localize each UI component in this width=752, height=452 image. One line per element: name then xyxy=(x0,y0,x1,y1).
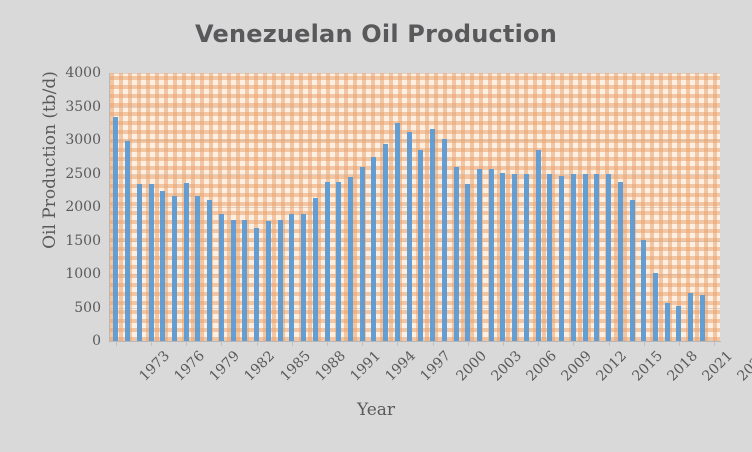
x-axis-tick-labels: 1973197619791982198519881991199419972000… xyxy=(110,342,720,397)
y-axis-tick-label: 1000 xyxy=(65,266,101,282)
bar xyxy=(618,182,623,341)
x-axis-tickmark xyxy=(503,342,504,346)
x-axis-tickmark xyxy=(433,342,434,346)
bar xyxy=(325,182,330,341)
bar xyxy=(653,273,658,341)
bar xyxy=(594,174,599,341)
bar xyxy=(360,167,365,341)
bar xyxy=(512,174,517,341)
bar xyxy=(242,220,247,341)
x-axis-tickmark xyxy=(644,342,645,346)
bar xyxy=(559,176,564,341)
x-axis-tickmark xyxy=(327,342,328,346)
x-axis-tickmark xyxy=(714,342,715,346)
x-axis-tick-label: 2024 xyxy=(735,348,752,385)
y-axis-tick-label: 2500 xyxy=(65,166,101,182)
bar xyxy=(418,150,423,341)
bar xyxy=(289,214,294,341)
bar xyxy=(125,141,130,341)
x-axis-tickmark xyxy=(116,342,117,346)
plot-area xyxy=(110,73,720,341)
x-axis-tick-label: 1979 xyxy=(207,348,244,385)
x-axis-tickmark xyxy=(186,342,187,346)
bar xyxy=(536,150,541,341)
x-axis-tick-label: 2015 xyxy=(629,348,666,385)
x-axis-tick-label: 2006 xyxy=(523,348,560,385)
bar xyxy=(407,132,412,341)
bar xyxy=(266,221,271,341)
bar xyxy=(313,198,318,341)
bar xyxy=(430,129,435,341)
x-axis-tickmark xyxy=(257,342,258,346)
bar xyxy=(454,167,459,341)
bar xyxy=(113,117,118,341)
bar xyxy=(688,293,693,341)
bar xyxy=(583,174,588,342)
x-axis-tickmark xyxy=(609,342,610,346)
x-axis-tickmark xyxy=(292,342,293,346)
bar xyxy=(641,240,646,341)
y-axis-tick-label: 500 xyxy=(74,300,101,316)
bar xyxy=(254,228,259,341)
x-axis-tick-label: 2021 xyxy=(699,348,736,385)
bar xyxy=(524,174,529,341)
bar xyxy=(395,123,400,341)
y-axis-tick-label: 3000 xyxy=(65,132,101,148)
bar xyxy=(172,196,177,341)
plot-inner xyxy=(110,73,720,341)
x-axis-tick-label: 1973 xyxy=(136,348,173,385)
bar xyxy=(571,174,576,342)
bar xyxy=(500,173,505,341)
bar xyxy=(160,191,165,341)
x-axis-tickmark xyxy=(468,342,469,346)
x-axis-tick-label: 1988 xyxy=(312,348,349,385)
bar xyxy=(665,303,670,341)
y-axis-tick-label: 1500 xyxy=(65,233,101,249)
y-axis-tick-label: 0 xyxy=(92,333,101,349)
y-axis-tick-label: 3500 xyxy=(65,99,101,115)
x-axis-tick-label: 1982 xyxy=(242,348,279,385)
x-axis-tick-label: 2000 xyxy=(453,348,490,385)
x-axis-tickmark xyxy=(397,342,398,346)
x-axis-tickmark xyxy=(362,342,363,346)
bar xyxy=(477,169,482,341)
chart-container: Venezuelan Oil Production Oil Production… xyxy=(0,0,752,452)
x-axis-tickmark xyxy=(221,342,222,346)
bar xyxy=(371,157,376,341)
y-axis-tick-labels: 40003500300025002000150010005000 xyxy=(50,73,105,341)
bar xyxy=(700,295,705,341)
bar xyxy=(137,184,142,341)
bar xyxy=(195,196,200,341)
x-axis-tickmark xyxy=(679,342,680,346)
bar xyxy=(207,200,212,341)
y-axis-tick-label: 2000 xyxy=(65,199,101,215)
x-axis-tickmark xyxy=(538,342,539,346)
bar xyxy=(489,169,494,341)
bar xyxy=(676,306,681,341)
x-axis-tick-label: 1994 xyxy=(383,348,420,385)
bar xyxy=(383,144,388,341)
bar xyxy=(348,177,353,341)
x-axis-tick-label: 1991 xyxy=(347,348,384,385)
x-axis-tick-label: 2009 xyxy=(559,348,596,385)
x-axis-tick-label: 2018 xyxy=(664,348,701,385)
x-axis-title: Year xyxy=(0,400,752,420)
x-axis-tick-label: 1985 xyxy=(277,348,314,385)
bar xyxy=(219,214,224,341)
bar-series xyxy=(110,73,720,341)
x-axis-tick-label: 2012 xyxy=(594,348,631,385)
chart-title: Venezuelan Oil Production xyxy=(0,20,752,48)
x-axis-tick-label: 1997 xyxy=(418,348,455,385)
bar xyxy=(149,184,154,341)
x-axis-tickmark xyxy=(573,342,574,346)
bar xyxy=(442,139,447,341)
bar xyxy=(231,220,236,341)
bar xyxy=(465,184,470,341)
x-axis-tick-label: 2003 xyxy=(488,348,525,385)
bar xyxy=(336,182,341,341)
bar xyxy=(630,200,635,341)
x-axis-tick-label: 1976 xyxy=(171,348,208,385)
x-axis-tickmark xyxy=(151,342,152,346)
bar xyxy=(606,174,611,341)
bar xyxy=(301,214,306,341)
y-axis-tick-label: 4000 xyxy=(65,65,101,81)
bar xyxy=(278,220,283,341)
bar xyxy=(184,183,189,341)
bar xyxy=(547,174,552,341)
